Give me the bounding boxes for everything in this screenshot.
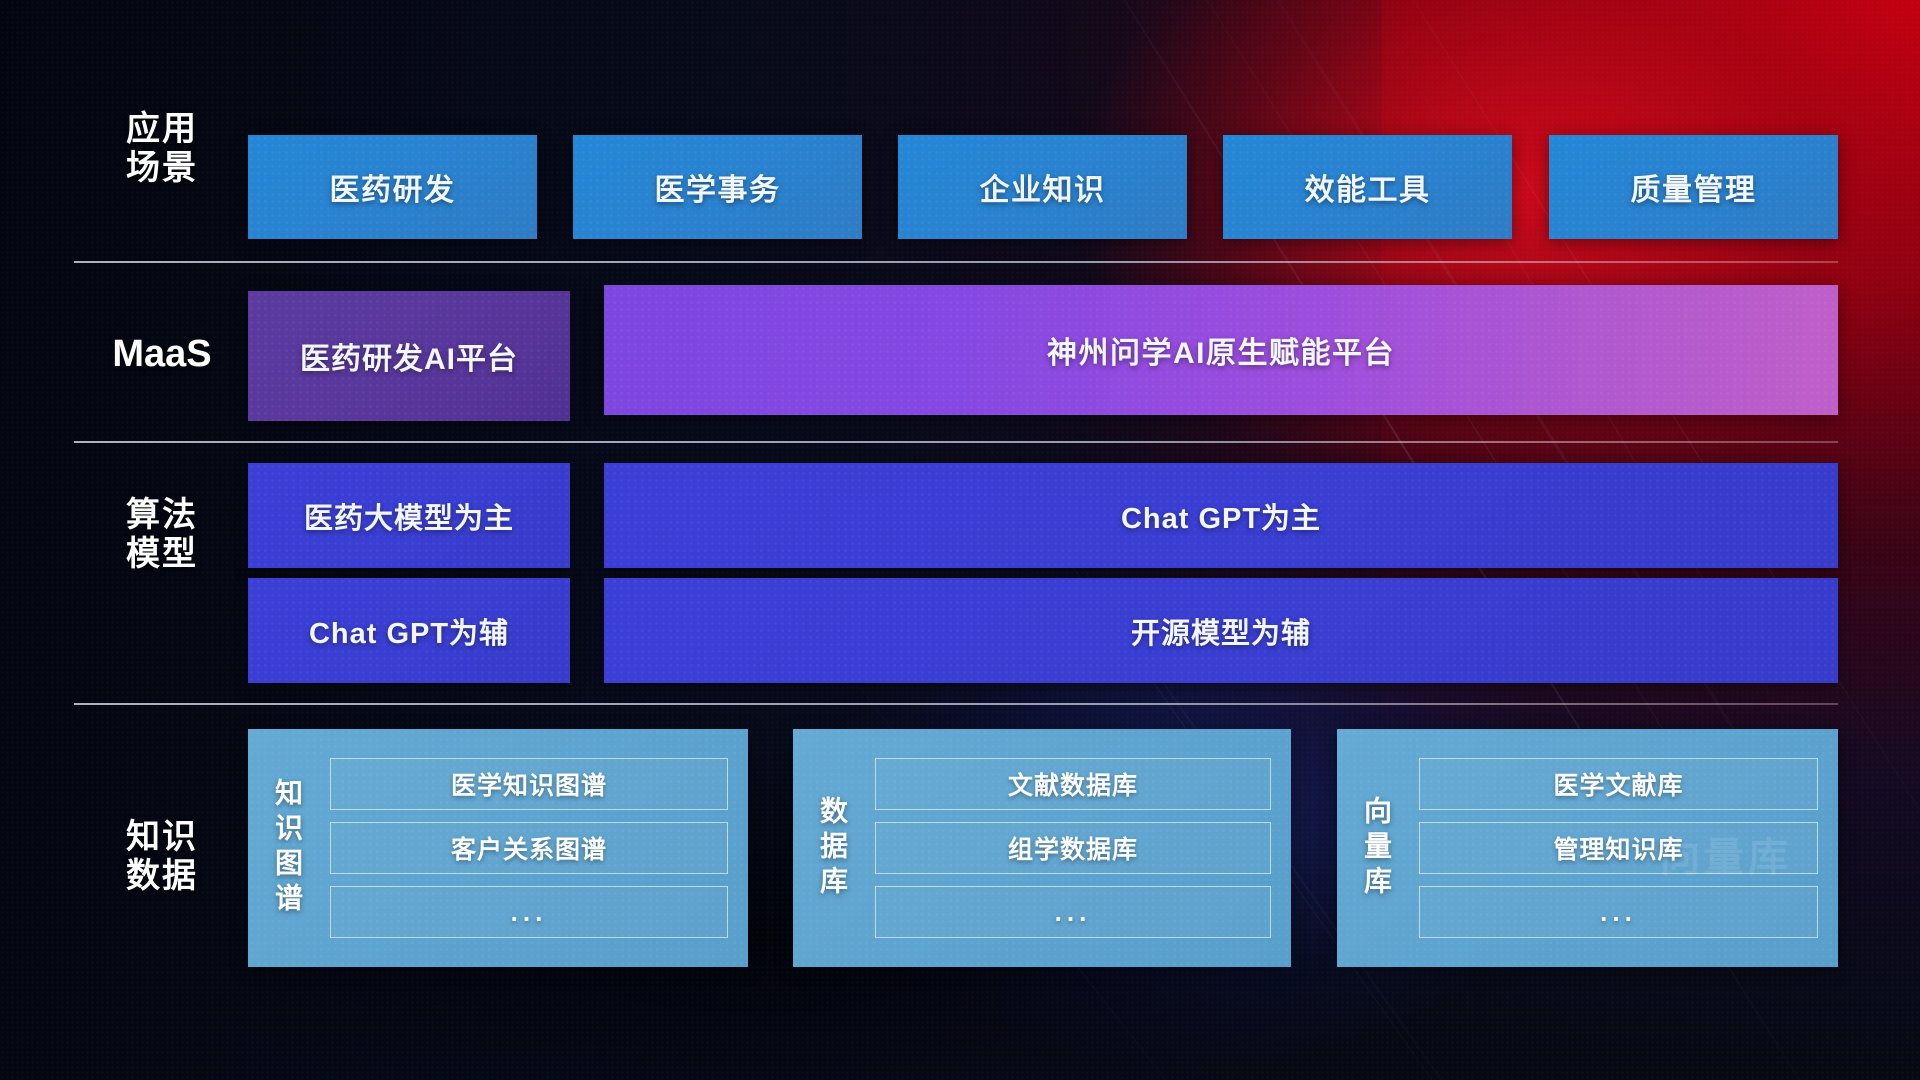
row-label-algorithm-line1: 算法 [74, 496, 250, 535]
knowledge-panel-database-title: 数据库 [793, 729, 871, 967]
application-box-3[interactable]: 企业知识 [898, 135, 1187, 239]
list-item[interactable]: 组学数据库 [875, 822, 1271, 874]
row-label-application-line2: 场景 [74, 149, 250, 188]
row-label-algorithm-line2: 模型 [74, 535, 250, 574]
maas-platform-box-shenzhou-label: 神州问学AI原生赋能平台 [1047, 328, 1395, 372]
divider-maas-algorithm [74, 441, 1838, 443]
knowledge-panel-vector-title: 向量库 [1337, 729, 1415, 967]
maas-platform-box-shenzhou[interactable]: 神州问学AI原生赋能平台 [604, 285, 1838, 415]
diagram-frame: 应用 场景 医药研发 医学事务 企业知识 效能工具 质量管理 MaaS 医药研发… [0, 0, 1920, 1080]
maas-platform-box-medical-label: 医药研发AI平台 [300, 334, 518, 378]
knowledge-panel-graph-title: 知识图谱 [248, 729, 326, 967]
application-box-2[interactable]: 医学事务 [573, 135, 862, 239]
list-item[interactable]: 医学文献库 [1419, 758, 1818, 810]
knowledge-panel-vector-list: 医学文献库 管理知识库 ... [1415, 729, 1838, 967]
algorithm-box-right-2-label: 开源模型为辅 [1131, 610, 1311, 652]
row-label-algorithm: 算法 模型 [74, 496, 250, 574]
application-box-1[interactable]: 医药研发 [248, 135, 537, 239]
list-item-more[interactable]: ... [330, 886, 728, 938]
algorithm-box-left-1[interactable]: 医药大模型为主 [248, 463, 570, 568]
application-box-4-label: 效能工具 [1305, 165, 1431, 209]
application-box-3-label: 企业知识 [980, 165, 1106, 209]
row-label-knowledge: 知识 数据 [74, 818, 250, 896]
knowledge-panel-vector[interactable]: 向量库 向量库 医学文献库 管理知识库 ... [1337, 729, 1838, 967]
row-label-application-line1: 应用 [74, 110, 250, 149]
list-item[interactable]: 文献数据库 [875, 758, 1271, 810]
row-label-knowledge-line1: 知识 [74, 818, 250, 857]
maas-platform-box-medical[interactable]: 医药研发AI平台 [248, 291, 570, 421]
application-box-5[interactable]: 质量管理 [1549, 135, 1838, 239]
knowledge-panel-graph-list: 医学知识图谱 客户关系图谱 ... [326, 729, 748, 967]
row-label-maas: MaaS [74, 333, 250, 376]
list-item-more[interactable]: ... [875, 886, 1271, 938]
row-label-maas-text: MaaS [74, 333, 250, 376]
application-box-2-label: 医学事务 [655, 165, 781, 209]
knowledge-panel-database[interactable]: 数据库 文献数据库 组学数据库 ... [793, 729, 1291, 967]
application-box-1-label: 医药研发 [330, 165, 456, 209]
row-label-application: 应用 场景 [74, 110, 250, 188]
divider-application-maas [74, 261, 1838, 263]
algorithm-box-left-1-label: 医药大模型为主 [304, 495, 514, 537]
algorithm-box-left-2[interactable]: Chat GPT为辅 [248, 578, 570, 683]
list-item[interactable]: 医学知识图谱 [330, 758, 728, 810]
algorithm-box-left-2-label: Chat GPT为辅 [309, 610, 509, 652]
list-item[interactable]: 管理知识库 [1419, 822, 1818, 874]
application-box-5-label: 质量管理 [1631, 165, 1757, 209]
knowledge-panel-graph[interactable]: 知识图谱 医学知识图谱 客户关系图谱 ... [248, 729, 748, 967]
list-item-more[interactable]: ... [1419, 886, 1818, 938]
list-item[interactable]: 客户关系图谱 [330, 822, 728, 874]
divider-algorithm-knowledge [74, 703, 1838, 705]
row-label-knowledge-line2: 数据 [74, 857, 250, 896]
algorithm-box-right-1[interactable]: Chat GPT为主 [604, 463, 1838, 568]
knowledge-panel-database-list: 文献数据库 组学数据库 ... [871, 729, 1291, 967]
algorithm-box-right-2[interactable]: 开源模型为辅 [604, 578, 1838, 683]
algorithm-box-right-1-label: Chat GPT为主 [1121, 495, 1321, 537]
application-box-4[interactable]: 效能工具 [1223, 135, 1512, 239]
